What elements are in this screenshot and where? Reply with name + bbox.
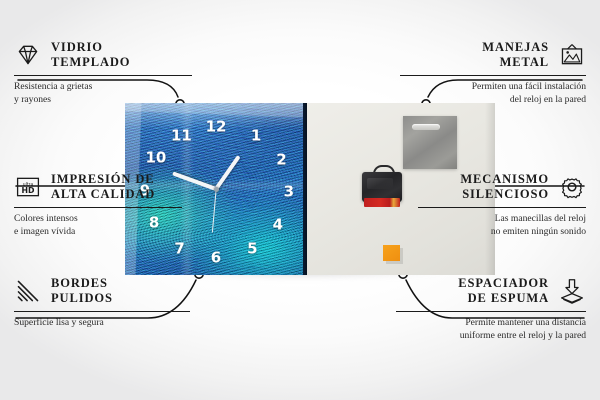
callout-mecanismo-silencioso: Mecanismo Silencioso Las manecillas del … [418,172,586,239]
clock-numeral-11: 11 [171,128,192,143]
callout-vidrio-templado: Vidrio Templado Resistencia a grietas y … [14,40,192,107]
callout-rule [14,75,192,77]
spacer-press-icon [558,278,586,304]
callout-desc: Colores intensos e imagen vívida [14,213,182,239]
callout-rule [14,207,182,209]
hanger-slot [412,124,440,130]
callout-rule [14,311,190,313]
callout-title: Manejas Metal [482,40,549,71]
callout-desc: Resistencia a grietas y rayones [14,81,192,107]
callout-impresion-alta-calidad: ultra HD Impresión de Alta Calidad Color… [14,172,182,239]
callout-desc: Permite mantener una distancia uniforme … [396,317,586,343]
callout-title: Vidrio Templado [51,40,130,71]
clock-numeral-2: 2 [276,152,286,167]
clock-numeral-10: 10 [146,151,167,166]
foam-spacer [383,245,400,261]
clock-numeral-5: 5 [247,242,257,257]
callout-rule [400,75,586,77]
callout-title: Espaciador de Espuma [458,276,549,307]
callout-bordes-pulidos: Bordes Pulidos Superficie lisa y segura [14,276,190,330]
callout-manejas-metal: Manejas Metal Permiten una fácil instala… [400,40,586,107]
clock-numeral-12: 12 [206,120,227,135]
picture-frame-icon [558,42,586,68]
callout-desc: Superficie lisa y segura [14,317,190,330]
clock-numeral-4: 4 [273,218,283,233]
polished-edges-icon [14,278,42,304]
clock-numeral-7: 7 [174,242,184,257]
callout-desc: Las manecillas del reloj no emiten ningú… [418,213,586,239]
callout-title: Impresión de Alta Calidad [51,172,155,203]
callout-desc: Permiten una fácil instalación del reloj… [400,81,586,107]
gear-icon [558,174,586,200]
clock-center-pin [214,187,219,192]
ultra-hd-icon: ultra HD [14,174,42,200]
clock-numeral-1: 1 [251,128,261,143]
clock-numeral-3: 3 [284,185,294,200]
callout-espaciador-de-espuma: Espaciador de Espuma Permite mantener un… [396,276,586,343]
diamond-icon [14,42,42,68]
metal-hanger-plate [403,116,457,169]
callout-title: Mecanismo Silencioso [460,172,549,203]
infographic-canvas: 12 1 2 3 4 5 6 7 8 9 10 11 [0,0,600,400]
movement-label-strip [364,198,400,207]
svg-text:HD: HD [22,186,36,195]
callout-rule [396,311,586,313]
callout-title: Bordes Pulidos [51,276,113,307]
quartz-movement [362,165,402,209]
clock-numeral-6: 6 [211,250,221,265]
callout-rule [418,207,586,209]
